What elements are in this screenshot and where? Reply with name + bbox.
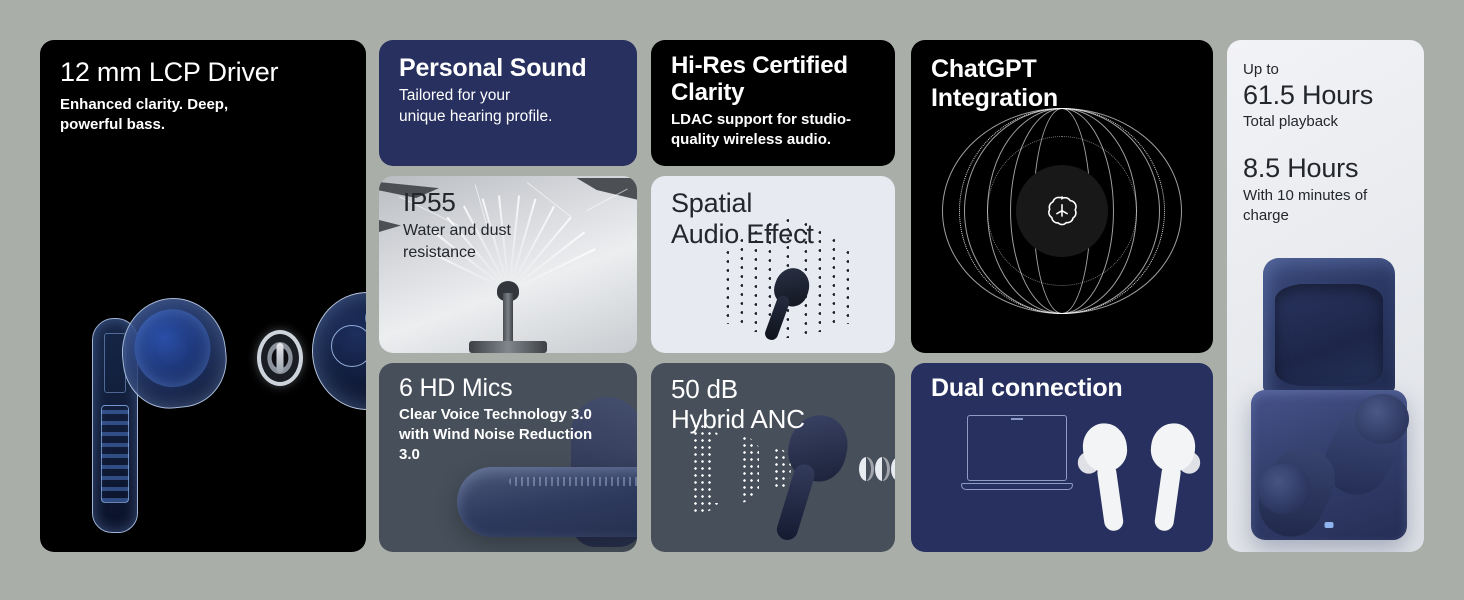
12mm-lcp-driver-card[interactable]: 12 mm LCP Driver Enhanced clarity. Deep,…: [40, 40, 366, 552]
feature-grid-board: 12 mm LCP Driver Enhanced clarity. Deep,…: [0, 0, 1464, 600]
card-subtitle: LDAC support for studio- quality wireles…: [671, 110, 875, 150]
card-title: Personal Sound: [399, 55, 617, 82]
card-title: 12 mm LCP Driver: [60, 58, 346, 87]
battery-eyebrow-1: Up to: [1243, 60, 1408, 80]
card-title: Hi-Res Certified Clarity: [671, 53, 875, 107]
50db-hybrid-anc-card[interactable]: 50 dB Hybrid ANC: [651, 363, 895, 552]
card-title: IP55: [403, 188, 617, 216]
openai-logo-icon: [1016, 165, 1108, 257]
hi-res-certified-clarity-card[interactable]: Hi-Res Certified Clarity LDAC support fo…: [651, 40, 895, 166]
earbud-left-icon: [1080, 420, 1139, 533]
spatial-audio-effect-card[interactable]: Spatial Audio Effect: [651, 176, 895, 353]
6-hd-mics-card[interactable]: 6 HD Mics Clear Voice Technology 3.0 wit…: [379, 363, 637, 552]
card-title: ChatGPT Integration: [931, 55, 1193, 112]
card-title: Dual connection: [931, 375, 1193, 402]
battery-life-card[interactable]: Up to 61.5 Hours Total playback 8.5 Hour…: [1227, 40, 1424, 552]
battery-caption-2: With 10 minutes of charge: [1243, 186, 1408, 226]
card-subtitle: Enhanced clarity. Deep, powerful bass.: [60, 95, 346, 135]
card-subtitle: Tailored for your unique hearing profile…: [399, 86, 617, 128]
earbud-right-icon: [1140, 420, 1199, 533]
card-subtitle: Water and dust resistance: [403, 220, 617, 263]
card-title: 6 HD Mics: [399, 375, 617, 402]
chatgpt-integration-card[interactable]: ChatGPT Integration: [911, 40, 1213, 353]
ip55-card[interactable]: IP55 Water and dust resistance: [379, 176, 637, 353]
battery-value-1: 61.5 Hours: [1243, 81, 1408, 110]
laptop-icon: [961, 415, 1073, 495]
battery-value-2: 8.5 Hours: [1243, 154, 1408, 183]
battery-caption-1: Total playback: [1243, 112, 1408, 132]
card-subtitle: Clear Voice Technology 3.0 with Wind Noi…: [399, 405, 617, 465]
card-title: Spatial Audio Effect: [671, 188, 875, 250]
dual-connection-card[interactable]: Dual connection: [911, 363, 1213, 552]
card-title: 50 dB Hybrid ANC: [671, 375, 875, 434]
open-charging-case-illustration: [1247, 258, 1409, 552]
personal-sound-card[interactable]: Personal Sound Tailored for your unique …: [379, 40, 637, 166]
